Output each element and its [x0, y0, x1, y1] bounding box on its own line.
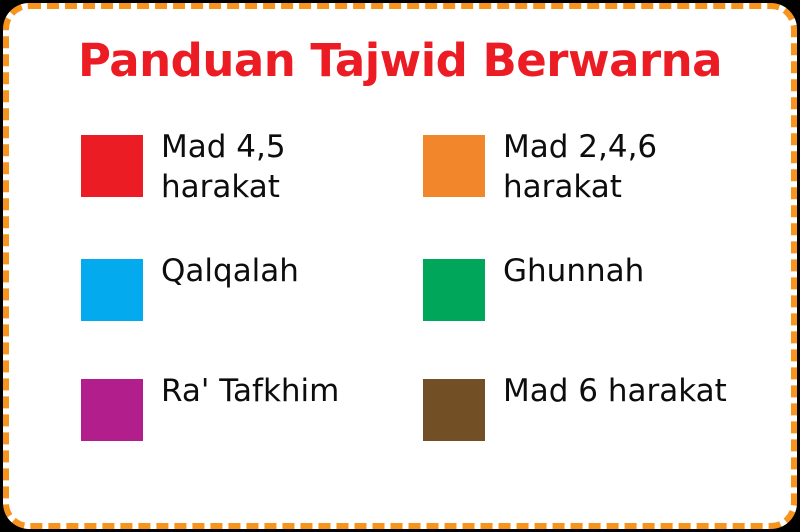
- legend-item-label: Mad 2,4,6 harakat: [503, 127, 733, 207]
- page-title: Panduan Tajwid Berwarna: [9, 35, 791, 87]
- legend-item-mad-6[interactable]: Mad 6 harakat: [423, 371, 741, 495]
- color-swatch-magenta: [81, 379, 143, 441]
- legend-item-label: Ghunnah: [503, 251, 644, 291]
- legend-item-mad-246[interactable]: Mad 2,4,6 harakat: [423, 127, 741, 251]
- legend-item-label: Ra' Tafkhim: [161, 371, 339, 411]
- legend-item-label: Qalqalah: [161, 251, 299, 291]
- tajwid-legend-card: Panduan Tajwid Berwarna Mad 4,5 harakat …: [3, 3, 797, 529]
- legend-item-ra-tafkhim[interactable]: Ra' Tafkhim: [81, 371, 423, 495]
- legend-grid: Mad 4,5 harakat Mad 2,4,6 harakat Qalqal…: [81, 127, 741, 495]
- legend-item-label: Mad 4,5 harakat: [161, 127, 391, 207]
- color-swatch-green: [423, 259, 485, 321]
- legend-item-ghunnah[interactable]: Ghunnah: [423, 251, 741, 371]
- legend-item-qalqalah[interactable]: Qalqalah: [81, 251, 423, 371]
- legend-item-mad-45[interactable]: Mad 4,5 harakat: [81, 127, 423, 251]
- color-swatch-red: [81, 135, 143, 197]
- color-swatch-cyan: [81, 259, 143, 321]
- legend-item-label: Mad 6 harakat: [503, 371, 727, 411]
- color-swatch-brown: [423, 379, 485, 441]
- color-swatch-orange: [423, 135, 485, 197]
